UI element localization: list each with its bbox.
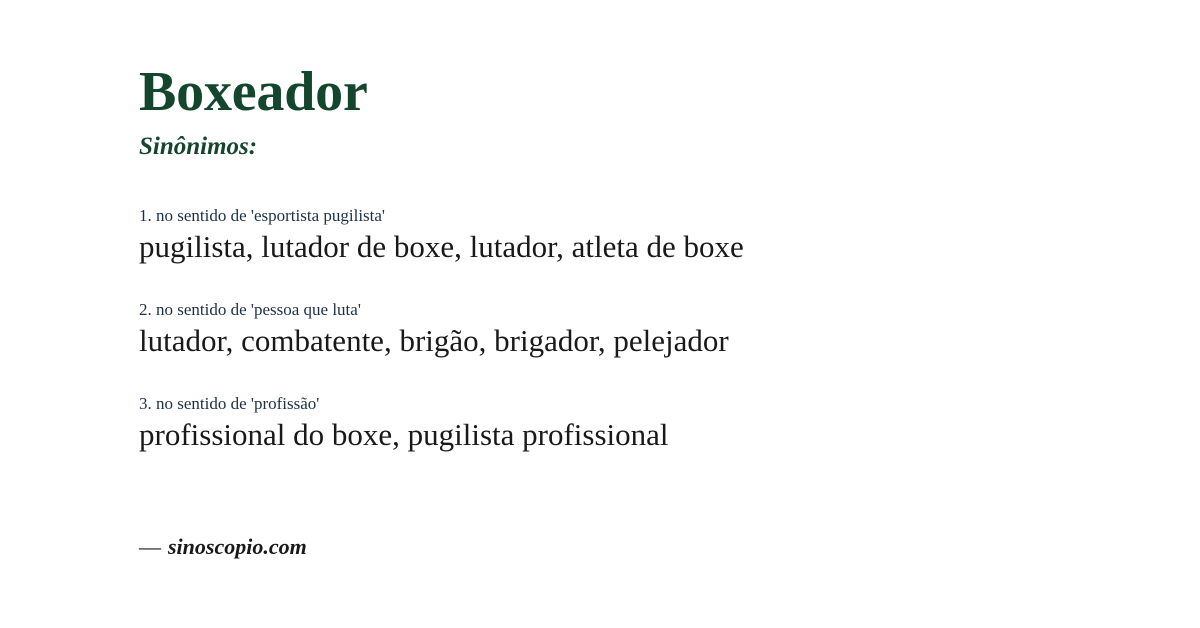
synonyms-subtitle: Sinônimos: bbox=[139, 133, 257, 162]
em-dash-icon: — bbox=[139, 534, 161, 559]
synonym-card: Boxeador Sinônimos: 1. no sentido de 'es… bbox=[0, 0, 1200, 628]
sense-list: 1. no sentido de 'esportista pugilista' … bbox=[139, 205, 1139, 455]
sense-label: 3. no sentido de 'profissão' bbox=[139, 393, 1139, 414]
sense-entry-1: 1. no sentido de 'esportista pugilista' … bbox=[139, 205, 1139, 267]
sense-label: 1. no sentido de 'esportista pugilista' bbox=[139, 205, 1139, 226]
sense-entry-3: 3. no sentido de 'profissão' profissiona… bbox=[139, 393, 1139, 455]
sense-entry-2: 2. no sentido de 'pessoa que luta' lutad… bbox=[139, 299, 1139, 361]
sense-label: 2. no sentido de 'pessoa que luta' bbox=[139, 299, 1139, 320]
source-attribution: —sinoscopio.com bbox=[139, 534, 307, 560]
sense-synonyms: profissional do boxe, pugilista profissi… bbox=[139, 416, 1139, 455]
sense-synonyms: lutador, combatente, brigão, brigador, p… bbox=[139, 322, 1139, 361]
page-title: Boxeador bbox=[139, 62, 368, 122]
source-name: sinoscopio.com bbox=[168, 534, 307, 559]
sense-synonyms: pugilista, lutador de boxe, lutador, atl… bbox=[139, 228, 1139, 267]
